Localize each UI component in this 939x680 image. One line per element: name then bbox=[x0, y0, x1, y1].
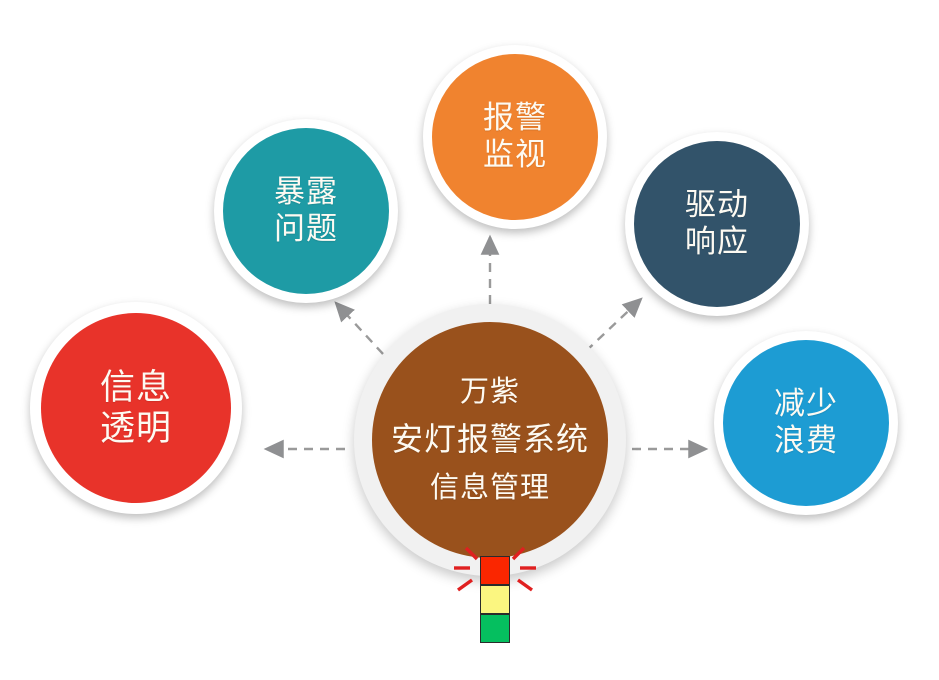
center-hub-label: 万紫 安灯报警系统 信息管理 bbox=[391, 375, 589, 505]
node-drive-response[interactable]: 驱动 响应 bbox=[625, 132, 809, 316]
connector-center-to-drive bbox=[586, 299, 641, 351]
andon-lamp-yellow-icon bbox=[480, 585, 510, 614]
andon-lamp-red-icon bbox=[480, 556, 510, 585]
center-hub-line-3: 信息管理 bbox=[430, 471, 550, 505]
andon-lamp-green-icon bbox=[480, 614, 510, 643]
node-info-transparency[interactable]: 信息 透明 bbox=[30, 302, 242, 514]
node-expose-problems-label: 暴露 问题 bbox=[274, 174, 338, 247]
node-reduce-waste-label: 减少 浪费 bbox=[774, 386, 838, 459]
connector-center-to-expose bbox=[336, 303, 383, 354]
node-drive-response-label: 驱动 响应 bbox=[685, 187, 749, 260]
node-alarm-monitoring[interactable]: 报警 监视 bbox=[423, 45, 607, 229]
center-hub-line-2: 安灯报警系统 bbox=[391, 421, 589, 459]
diagram-canvas: 信息 透明 暴露 问题 报警 监视 驱动 响应 减少 浪费 万紫 安灯报警系统 … bbox=[0, 0, 939, 680]
node-alarm-monitoring-label: 报警 监视 bbox=[483, 100, 547, 173]
andon-light-lamp-stack bbox=[480, 556, 510, 643]
node-expose-problems[interactable]: 暴露 问题 bbox=[214, 119, 398, 303]
andon-light-tower-icon bbox=[432, 538, 548, 650]
center-hub-node[interactable]: 万紫 安灯报警系统 信息管理 bbox=[354, 304, 626, 576]
node-reduce-waste[interactable]: 减少 浪费 bbox=[714, 331, 898, 515]
node-info-transparency-label: 信息 透明 bbox=[100, 367, 172, 450]
center-hub-line-1: 万紫 bbox=[460, 375, 520, 409]
